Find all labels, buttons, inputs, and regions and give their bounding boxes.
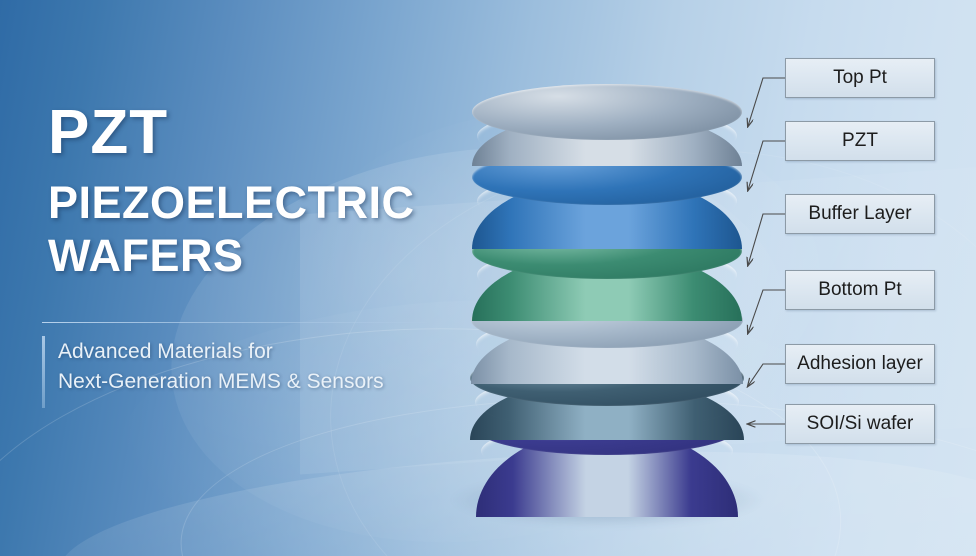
layer-label-pzt[interactable]: PZT [785, 121, 935, 161]
layer-label-text-bottom-pt: Bottom Pt [818, 279, 901, 301]
layer-label-text-adhesion-layer: Adhesion layer [797, 353, 923, 375]
layer-label-top-pt[interactable]: Top Pt [785, 58, 935, 98]
poster-canvas: PZT PIEZOELECTRIC WAFERS Advanced Materi… [0, 0, 976, 556]
layer-label-text-buffer-layer: Buffer Layer [808, 203, 911, 225]
layer-label-buffer-layer[interactable]: Buffer Layer [785, 194, 935, 234]
layer-label-text-top-pt: Top Pt [833, 67, 887, 89]
layer-label-text-pzt: PZT [842, 130, 878, 152]
layer-label-bottom-pt[interactable]: Bottom Pt [785, 270, 935, 310]
wafer-layer-top-pt[interactable] [472, 84, 742, 166]
layer-label-text-soi-si-wafer: SOI/Si wafer [807, 413, 914, 435]
wafer-top-face-top-pt [472, 84, 742, 140]
layer-label-soi-si-wafer[interactable]: SOI/Si wafer [785, 404, 935, 444]
layer-label-adhesion-layer[interactable]: Adhesion layer [785, 344, 935, 384]
